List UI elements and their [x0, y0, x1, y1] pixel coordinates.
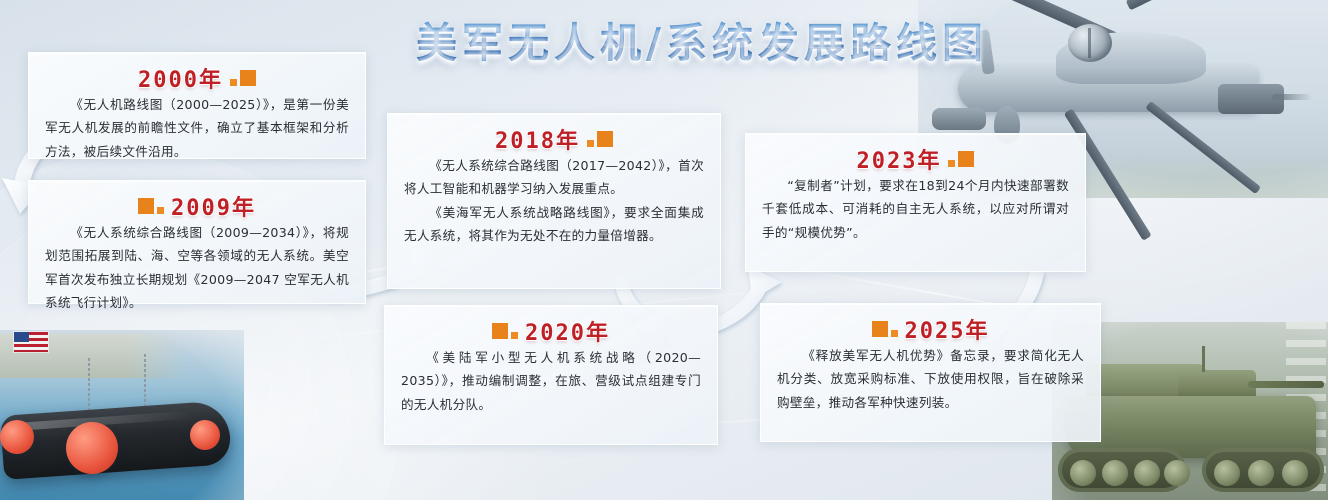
- timeline-card-2018[interactable]: 2018年 《无人系统综合路线图（2017—2042）》，首次将人工智能和机器学…: [387, 113, 721, 289]
- timeline-card-2020[interactable]: 2020年 《美陆军小型无人机系统战略（2020—2035）》，推动编制调整，在…: [384, 305, 718, 445]
- timeline-card-2000[interactable]: 2000年 《无人机路线图（2000—2025）》，是第一份美军无人机发展的前瞻…: [28, 52, 366, 159]
- card-body: 《美陆军小型无人机系统战略（2020—2035）》，推动编制调整，在旅、营级试点…: [401, 346, 701, 416]
- card-paragraph: 《无人系统综合路线图（2009—2034）》，将规划范围拓展到陆、海、空等各领域…: [45, 221, 349, 314]
- orange-square-marker: [492, 323, 518, 339]
- card-body: 《无人系统综合路线图（2009—2034）》，将规划范围拓展到陆、海、空等各领域…: [45, 221, 349, 314]
- card-paragraph: 《无人机路线图（2000—2025）》，是第一份美军无人机发展的前瞻性文件，确立…: [45, 93, 349, 163]
- year-label-row: 2000年: [45, 63, 349, 93]
- unmanned-underwater-vehicle-photo: [0, 330, 244, 500]
- card-body: 《无人机路线图（2000—2025）》，是第一份美军无人机发展的前瞻性文件，确立…: [45, 93, 349, 163]
- page-title-text: 美军无人机/系统发展路线图: [416, 9, 988, 69]
- year-label: 2020年: [525, 315, 610, 347]
- timeline-card-2023[interactable]: 2023年 “复制者”计划，要求在18到24个月内快速部署数千套低成本、可消耗的…: [745, 133, 1086, 272]
- orange-square-marker: [138, 198, 164, 214]
- orange-square-marker: [587, 131, 613, 147]
- orange-square-marker: [230, 70, 256, 86]
- page-title: 美军无人机/系统发展路线图 美军无人机/系统发展路线图: [378, 8, 1026, 70]
- year-label: 2023年: [857, 143, 942, 175]
- orange-square-marker: [948, 151, 974, 167]
- card-body: “复制者”计划，要求在18到24个月内快速部署数千套低成本、可消耗的自主无人系统…: [762, 174, 1069, 244]
- card-paragraph: 《释放美军无人机优势》备忘录，要求简化无人机分类、放宽采购标准、下放使用权限，旨…: [777, 344, 1084, 414]
- card-body: 《无人系统综合路线图（2017—2042）》，首次将人工智能和机器学习纳入发展重…: [404, 154, 704, 247]
- infographic-canvas: 美军无人机/系统发展路线图 美军无人机/系统发展路线图 2000年 《无人机路线…: [0, 0, 1328, 500]
- timeline-card-2009[interactable]: 2009年 《无人系统综合路线图（2009—2034）》，将规划范围拓展到陆、海…: [28, 180, 366, 304]
- year-label: 2009年: [171, 190, 256, 222]
- card-paragraph: “复制者”计划，要求在18到24个月内快速部署数千套低成本、可消耗的自主无人系统…: [762, 174, 1069, 244]
- card-paragraph: 《无人系统综合路线图（2017—2042）》，首次将人工智能和机器学习纳入发展重…: [404, 154, 704, 201]
- year-label-row: 2023年: [762, 144, 1069, 174]
- card-paragraph: 《美陆军小型无人机系统战略（2020—2035）》，推动编制调整，在旅、营级试点…: [401, 346, 701, 416]
- year-label-row: 2018年: [404, 124, 704, 154]
- us-flag-icon: [14, 332, 48, 352]
- year-label-row: 2009年: [45, 191, 349, 221]
- timeline-card-2025[interactable]: 2025年 《释放美军无人机优势》备忘录，要求简化无人机分类、放宽采购标准、下放…: [760, 303, 1101, 442]
- year-label: 2000年: [138, 62, 223, 94]
- year-label-row: 2020年: [401, 316, 701, 346]
- year-label-row: 2025年: [777, 314, 1084, 344]
- card-body: 《释放美军无人机优势》备忘录，要求简化无人机分类、放宽采购标准、下放使用权限，旨…: [777, 344, 1084, 414]
- year-label: 2018年: [495, 123, 580, 155]
- year-label: 2025年: [905, 313, 990, 345]
- orange-square-marker: [872, 321, 898, 337]
- card-paragraph: 《美海军无人系统战略路线图》，要求全面集成无人系统，将其作为无处不在的力量倍增器…: [404, 201, 704, 248]
